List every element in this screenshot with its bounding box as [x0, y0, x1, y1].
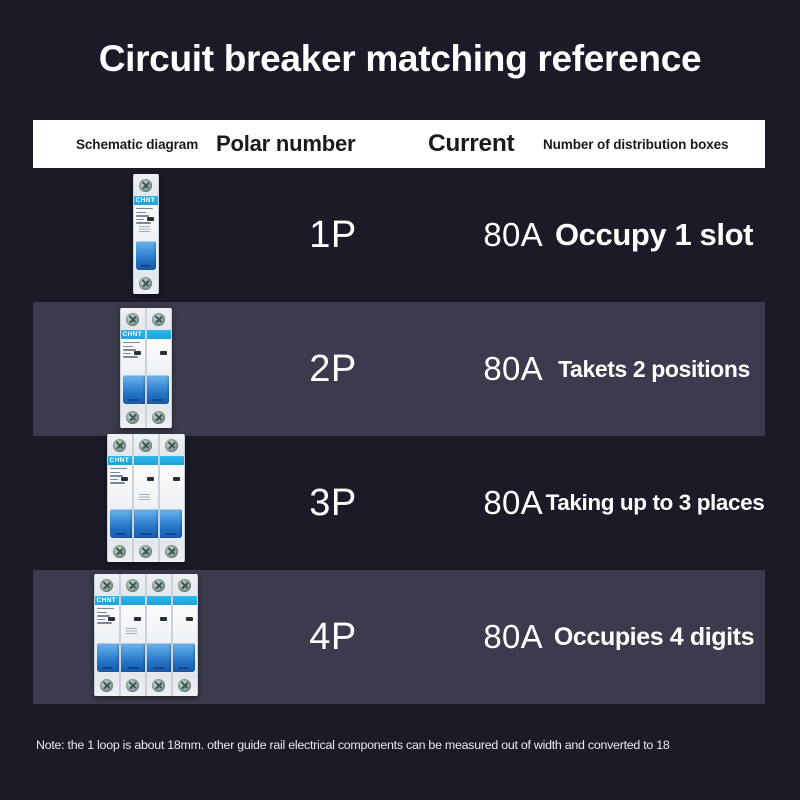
screw-icon	[178, 679, 191, 692]
screw-icon	[100, 579, 113, 592]
screw-icon	[113, 545, 126, 558]
breaker-face	[121, 605, 145, 641]
breaker-pole	[133, 434, 159, 562]
current-value: 80A	[408, 302, 543, 436]
screw-icon	[152, 679, 165, 692]
polar-number-value: 3P	[258, 436, 408, 570]
terminal-bottom	[147, 674, 171, 696]
screw-icon	[152, 579, 165, 592]
table-row: CHNT	[33, 570, 765, 704]
column-header-polar-number: Polar number	[216, 120, 355, 168]
breaker-pole	[146, 308, 172, 428]
circuit-breaker-3p-image: CHNT	[107, 434, 185, 562]
terminal-top	[173, 574, 197, 596]
column-header-current: Current	[428, 120, 514, 168]
brand-band: CHNT	[134, 196, 158, 205]
description-value: Taking up to 3 places	[539, 436, 771, 570]
lever-zone	[173, 641, 197, 674]
brand-band: CHNT	[108, 456, 132, 465]
toggle-lever	[110, 509, 132, 538]
lever-zone	[95, 641, 119, 674]
brand-band	[134, 456, 158, 465]
screw-icon	[139, 439, 152, 452]
breaker-face	[160, 465, 184, 507]
terminal-top	[121, 574, 145, 596]
screw-icon	[152, 411, 165, 424]
indicator-window	[134, 351, 141, 355]
circuit-breaker-1p-image: CHNT	[133, 174, 159, 294]
schematic-cell: CHNT	[33, 436, 258, 570]
brand-band	[147, 596, 171, 605]
lever-zone	[108, 507, 132, 540]
breaker-pole: CHNT	[133, 174, 159, 294]
terminal-top	[121, 308, 145, 330]
terminal-bottom	[134, 272, 158, 294]
indicator-window	[121, 477, 128, 481]
toggle-lever	[147, 375, 169, 404]
schematic-cell: CHNT	[33, 168, 258, 302]
toggle-lever	[136, 241, 156, 270]
toggle-lever	[134, 509, 158, 538]
terminal-bottom	[160, 540, 184, 562]
table-row: CHNT 1P 80A Occupy 1 slot	[33, 168, 765, 302]
schematic-cell: CHNT	[33, 570, 258, 704]
indicator-window	[160, 617, 167, 621]
indicator-window	[108, 617, 115, 621]
brand-label: CHNT	[97, 597, 117, 605]
brand-band	[147, 330, 171, 339]
polar-number-value: 2P	[258, 302, 408, 436]
lever-zone	[147, 641, 171, 674]
indicator-window	[160, 351, 167, 355]
table-header-row: Schematic diagram Polar number Current N…	[33, 120, 765, 168]
terminal-bottom	[108, 540, 132, 562]
schematic-cell: CHNT	[33, 302, 258, 436]
breaker-pole	[120, 574, 146, 696]
terminal-bottom	[147, 406, 171, 428]
brand-label: CHNT	[110, 457, 130, 465]
screw-icon	[139, 545, 152, 558]
test-marking	[139, 226, 150, 233]
terminal-bottom	[121, 674, 145, 696]
circuit-breaker-2p-image: CHNT	[120, 308, 172, 428]
terminal-bottom	[134, 540, 158, 562]
screw-icon	[139, 179, 152, 192]
terminal-top	[147, 574, 171, 596]
screw-icon	[165, 439, 178, 452]
brand-band	[173, 596, 197, 605]
breaker-face	[121, 339, 145, 373]
brand-label: CHNT	[136, 197, 156, 205]
terminal-bottom	[95, 674, 119, 696]
breaker-face	[147, 605, 171, 641]
toggle-lever	[147, 643, 171, 672]
breaker-face	[147, 339, 171, 373]
indicator-window	[147, 477, 154, 481]
description-value: Occupy 1 slot	[543, 168, 765, 302]
toggle-lever	[123, 375, 145, 404]
screw-icon	[139, 277, 152, 290]
description-value: Takets 2 positions	[543, 302, 765, 436]
screw-icon	[126, 313, 139, 326]
lever-zone	[121, 373, 145, 406]
terminal-bottom	[173, 674, 197, 696]
polar-number-value: 1P	[258, 168, 408, 302]
terminal-top	[108, 434, 132, 456]
toggle-lever	[160, 509, 182, 538]
description-value: Occupies 4 digits	[543, 570, 765, 704]
screw-icon	[113, 439, 126, 452]
indicator-window	[186, 617, 193, 621]
terminal-top	[134, 174, 158, 196]
terminal-bottom	[121, 406, 145, 428]
brand-band	[121, 596, 145, 605]
test-marking	[126, 628, 137, 635]
terminal-top	[95, 574, 119, 596]
polar-number-value: 4P	[258, 570, 408, 704]
test-marking	[139, 494, 150, 501]
breaker-pole: CHNT	[107, 434, 133, 562]
current-value: 80A	[408, 570, 543, 704]
breaker-face	[134, 205, 158, 239]
terminal-top	[134, 434, 158, 456]
brand-band: CHNT	[121, 330, 145, 339]
breaker-pole: CHNT	[94, 574, 120, 696]
toggle-lever	[97, 643, 119, 672]
breaker-face	[173, 605, 197, 641]
footer-note: Note: the 1 loop is about 18mm. other gu…	[36, 738, 776, 752]
indicator-window	[147, 217, 154, 221]
screw-icon	[178, 579, 191, 592]
current-value: 80A	[408, 436, 543, 570]
indicator-window	[173, 477, 180, 481]
screw-icon	[165, 545, 178, 558]
terminal-top	[160, 434, 184, 456]
terminal-top	[147, 308, 171, 330]
breaker-pole	[159, 434, 185, 562]
breaker-pole	[172, 574, 198, 696]
toggle-lever	[121, 643, 145, 672]
breaker-face	[108, 465, 132, 507]
brand-label: CHNT	[123, 331, 143, 339]
breaker-face	[134, 465, 158, 507]
comparison-table: Schematic diagram Polar number Current N…	[33, 120, 765, 704]
brand-band	[160, 456, 184, 465]
breaker-face	[95, 605, 119, 641]
indicator-window	[134, 617, 141, 621]
lever-zone	[147, 373, 171, 406]
breaker-pole	[146, 574, 172, 696]
brand-band: CHNT	[95, 596, 119, 605]
screw-icon	[100, 679, 113, 692]
screw-icon	[152, 313, 165, 326]
circuit-breaker-4p-image: CHNT	[94, 574, 198, 696]
lever-zone	[134, 507, 158, 540]
breaker-pole: CHNT	[120, 308, 146, 428]
table-row: CHNT	[33, 436, 765, 570]
lever-zone	[121, 641, 145, 674]
toggle-lever	[173, 643, 195, 672]
table-row: CHNT	[33, 302, 765, 436]
column-header-number-of-distribution-boxes: Number of distribution boxes	[543, 120, 728, 168]
current-value: 80A	[408, 168, 543, 302]
screw-icon	[126, 411, 139, 424]
screw-icon	[126, 679, 139, 692]
page-title: Circuit breaker matching reference	[0, 38, 800, 80]
column-header-schematic-diagram: Schematic diagram	[76, 120, 198, 168]
screw-icon	[126, 579, 139, 592]
lever-zone	[134, 239, 158, 272]
lever-zone	[160, 507, 184, 540]
